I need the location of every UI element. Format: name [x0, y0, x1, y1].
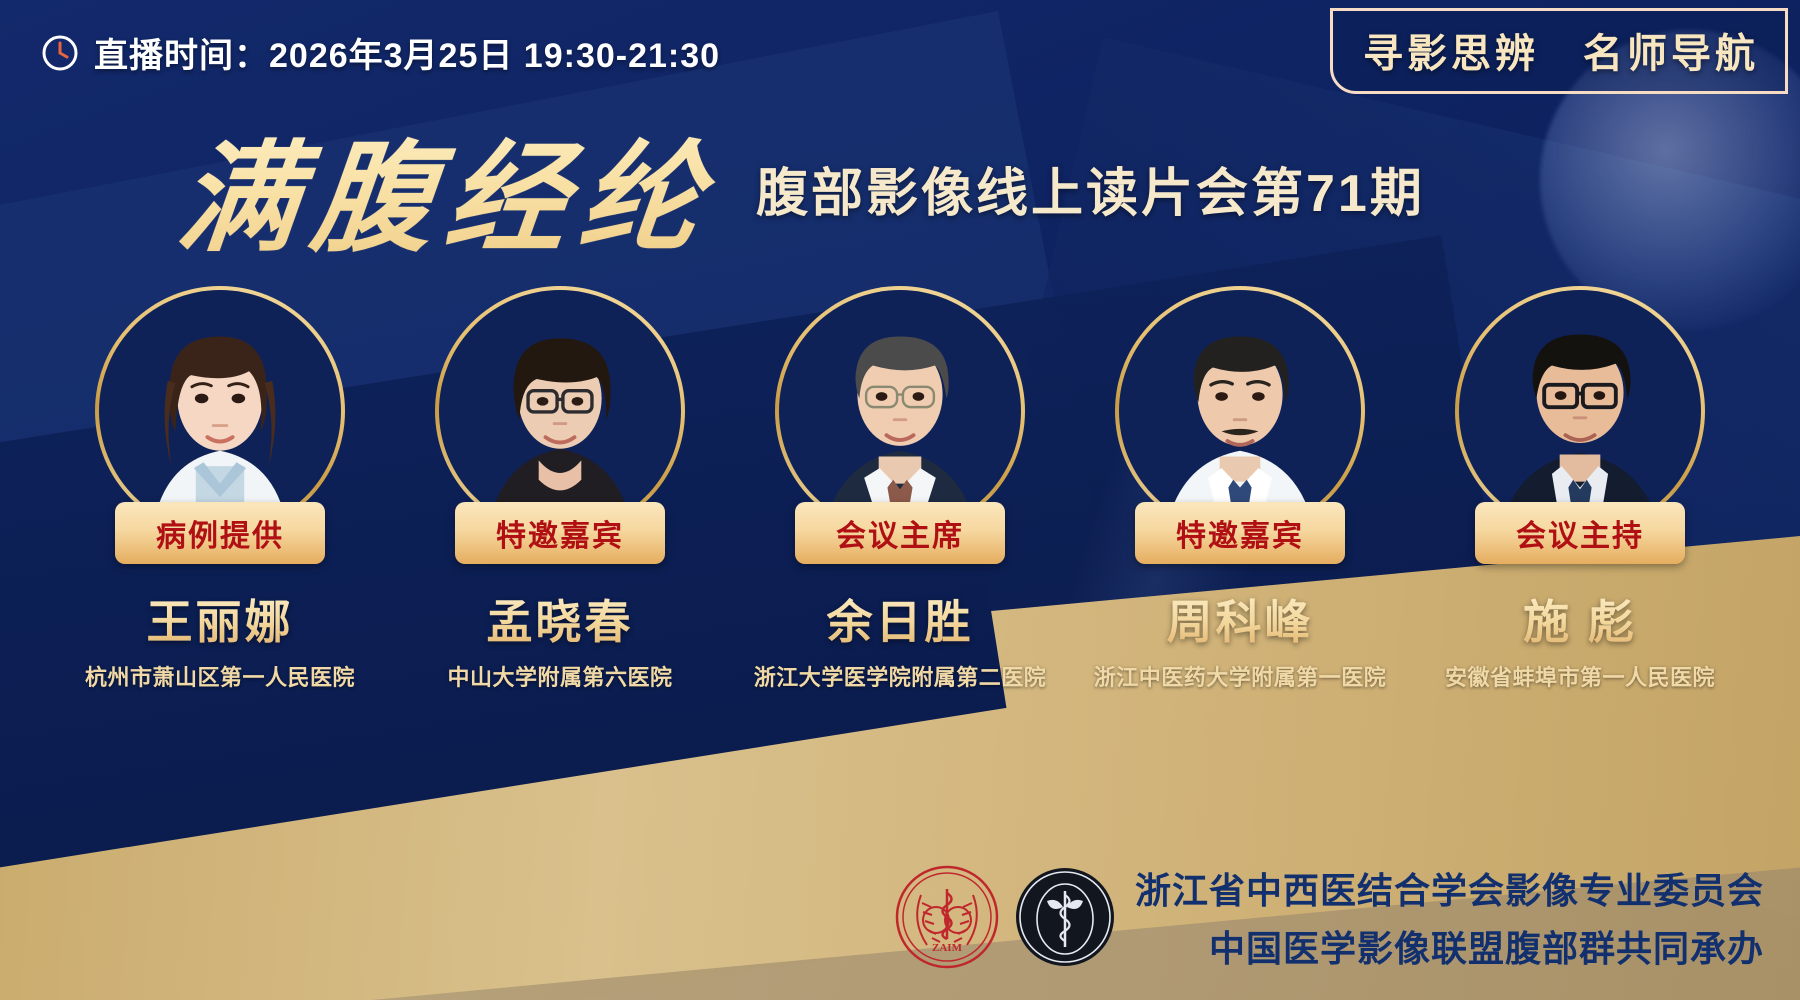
speaker-card: 病例提供 王丽娜 杭州市萧山区第一人民医院 [75, 286, 365, 692]
speaker-org: 中山大学附属第六医院 [447, 660, 672, 692]
role-label: 会议主席 [836, 520, 964, 553]
speaker-role-badge: 特邀嘉宾 [455, 502, 665, 564]
speaker-name: 施 彪 [1523, 586, 1637, 652]
speaker-role-badge: 会议主持 [1475, 502, 1685, 564]
speaker-name: 王丽娜 [147, 586, 294, 652]
organizer-line: 浙江省中西医结合学会影像专业委员会 [1135, 862, 1764, 914]
avatar [1459, 290, 1701, 532]
speaker-org: 浙江大学医学院附属第二医院 [754, 660, 1047, 692]
footer: ZAIM 浙江省中西医结合学会影像专业委员会 中国医学影像联盟腹部群共同承办 [895, 862, 1764, 972]
avatar [439, 290, 681, 532]
organizer-lines: 浙江省中西医结合学会影像专业委员会 中国医学影像联盟腹部群共同承办 [1135, 862, 1764, 972]
speaker-org: 浙江中医药大学附属第一医院 [1094, 660, 1387, 692]
svg-text:ZAIM: ZAIM [932, 942, 963, 954]
role-label: 特邀嘉宾 [1176, 520, 1304, 553]
slogan-text: 寻影思辨 名师导航 [1363, 32, 1759, 76]
role-label: 会议主持 [1516, 520, 1644, 553]
speaker-name: 周科峰 [1167, 586, 1314, 652]
speaker-card: 会议主持 施 彪 安徽省蚌埠市第一人民医院 [1435, 286, 1725, 692]
footer-logos: ZAIM [895, 865, 1117, 969]
speaker-name: 孟晓春 [487, 586, 634, 652]
avatar [1119, 290, 1361, 532]
speaker-list: 病例提供 王丽娜 杭州市萧山区第一人民医院 [0, 286, 1800, 706]
webinar-poster: 直播时间：2026年3月25日 19:30-21:30 寻影思辨 名师导航 满腹… [0, 0, 1800, 1000]
title-row: 满腹经纶 腹部影像线上读片会第71期 [0, 118, 1800, 258]
clock-icon [40, 33, 80, 73]
subtitle: 腹部影像线上读片会第71期 [756, 151, 1425, 226]
zaim-society-logo: ZAIM [895, 865, 999, 969]
speaker-org: 杭州市萧山区第一人民医院 [85, 660, 355, 692]
live-time-block: 直播时间：2026年3月25日 19:30-21:30 [40, 28, 720, 77]
speaker-role-badge: 会议主席 [795, 502, 1005, 564]
speaker-card: 会议主席 余日胜 浙江大学医学院附属第二医院 [755, 286, 1045, 692]
speaker-card: 特邀嘉宾 孟晓春 中山大学附属第六医院 [415, 286, 705, 692]
organizer-line: 中国医学影像联盟腹部群共同承办 [1135, 920, 1764, 972]
role-label: 病例提供 [156, 520, 284, 553]
role-label: 特邀嘉宾 [496, 520, 624, 553]
live-time-label: 直播时间：2026年3月25日 19:30-21:30 [94, 28, 720, 77]
portrait-ring [95, 286, 345, 536]
portrait-ring [775, 286, 1025, 536]
portrait-ring [435, 286, 685, 536]
speaker-org: 安徽省蚌埠市第一人民医院 [1445, 660, 1715, 692]
avatar [779, 290, 1021, 532]
speaker-role-badge: 特邀嘉宾 [1135, 502, 1345, 564]
medical-imaging-alliance-logo [1013, 865, 1117, 969]
portrait-ring [1115, 286, 1365, 536]
portrait-ring [1455, 286, 1705, 536]
speaker-card: 特邀嘉宾 周科峰 浙江中医药大学附属第一医院 [1095, 286, 1385, 692]
speaker-name: 余日胜 [827, 586, 974, 652]
speaker-role-badge: 病例提供 [115, 502, 325, 564]
avatar [99, 290, 341, 532]
main-title: 满腹经纶 [171, 101, 725, 275]
slogan-badge: 寻影思辨 名师导航 [1330, 8, 1788, 94]
